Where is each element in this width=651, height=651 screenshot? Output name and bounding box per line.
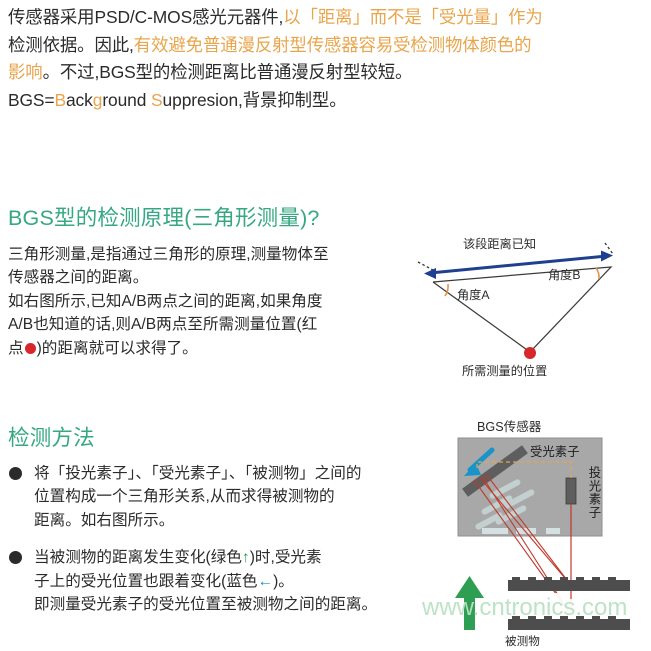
principle-line-1: 三角形测量,是指通过三角形的原理,测量物体至 — [8, 243, 408, 266]
window-slots — [482, 528, 560, 534]
bullet-1-line-1: 将「投光素子」、「受光素子」、「被测物」之间的 — [34, 462, 420, 485]
label-known-distance: 该段距离已知 — [463, 234, 536, 252]
angle-b-arc — [596, 268, 599, 279]
bgs-def-part-6: S — [151, 90, 163, 110]
intro-line-1-part-1: 传感器采用PSD/C-MOS感光元器件, — [8, 7, 283, 27]
triangle-outline — [433, 267, 611, 352]
method-bullet-list: 将「投光素子」、「受光素子」、「被测物」之间的 位置构成一个三角形关系,从而求得… — [8, 462, 420, 630]
intro-line-1: 传感器采用PSD/C-MOS感光元器件,以「距离」而不是「受光量」作为 — [8, 4, 648, 32]
bullet-2-line-1: 当被测物的距离发生变化(绿色↑)时,受光素 — [34, 546, 420, 569]
principle-line-4: A/B也知道的话,则A/B两点至所需测量位置(红 — [8, 313, 408, 336]
intro-line-2: 检测依据。因此,有效避免普通漫反射型传感器容易受检测物体颜色的 — [8, 32, 648, 60]
label-angle-b: 角度B — [548, 265, 581, 283]
triangulation-diagram: 该段距离已知 角度A 角度B 所需测量的位置 — [400, 226, 651, 386]
intro-paragraph: 传感器采用PSD/C-MOS感光元器件,以「距离」而不是「受光量」作为 检测依据… — [8, 4, 648, 114]
measurement-target-dot — [524, 347, 536, 359]
bullet-dot-icon — [9, 551, 22, 564]
arrow-left-blue-icon: ← — [258, 573, 274, 590]
bgs-def-part-5: round — [102, 90, 151, 110]
principle-line-3: 如右图所示,已知A/B两点之间的距离,如果角度 — [8, 290, 408, 313]
principle-line-5-prefix: 点 — [8, 340, 24, 357]
list-item: 当被测物的距离发生变化(绿色↑)时,受光素 子上的受光位置也跟着变化(蓝色←)。… — [8, 546, 420, 616]
principle-line-2: 传感器之间的距离。 — [8, 266, 408, 289]
section-heading-principle: BGS型的检测原理(三角形测量)? — [8, 205, 320, 231]
label-target-position: 所需测量的位置 — [462, 361, 547, 379]
emitter-element — [566, 478, 576, 504]
right-extension-dash — [605, 243, 613, 254]
red-dot-icon — [25, 343, 36, 354]
principle-line-5-suffix: )的距离就可以求得了。 — [37, 340, 198, 357]
section-heading-method: 检测方法 — [8, 425, 95, 451]
arrow-up-green-icon: ↑ — [242, 549, 250, 566]
bgs-def-part-4: g — [93, 90, 103, 110]
label-angle-a: 角度A — [457, 285, 490, 303]
intro-line-4-bgs-definition: BGS=Background Suppresion,背景抑制型。 — [8, 87, 648, 115]
intro-line-2-part-2: 有效避免普通漫反射型传感器容易受检测物体颜色的 — [134, 35, 532, 55]
bullet-dot-icon — [9, 467, 22, 480]
intro-line-2-part-1: 检测依据。因此, — [8, 35, 134, 55]
bullet-2-line-3: 即测量受光素子的受光位置至被测物之间的距离。 — [34, 593, 420, 616]
arrowhead-left — [424, 268, 436, 279]
bgs-def-part-2: B — [54, 90, 66, 110]
near-target-bar — [508, 577, 630, 591]
principle-body-text: 三角形测量,是指通过三角形的原理,测量物体至 传感器之间的距离。 如右图所示,已… — [8, 243, 408, 360]
watermark-text: www.cntronics.com — [422, 594, 627, 622]
bullet-1-line-3: 距离。如右图所示。 — [34, 509, 420, 532]
intro-line-3-part-2: 。不过,BGS型的检测距离比普通漫反射型较短。 — [43, 62, 413, 82]
left-extension-dash — [418, 262, 433, 270]
bgs-def-part-1: BGS= — [8, 90, 54, 110]
bullet-2-line-1-b: )时,受光素 — [250, 549, 322, 566]
bullet-2-line-2-b: )。 — [273, 573, 294, 590]
intro-line-1-part-2: 以「距离」而不是「受光量」作为 — [283, 7, 542, 27]
label-receiver-element: 受光素子 — [530, 442, 580, 460]
bullet-2-line-1-a: 当被测物的距离发生变化(绿色 — [34, 549, 242, 566]
intro-line-3-part-1: 影响 — [8, 62, 43, 82]
bgs-sensor-diagram: BGS传感器 — [430, 416, 651, 651]
label-measured-object: 被测物 — [505, 633, 540, 649]
list-item: 将「投光素子」、「受光素子」、「被测物」之间的 位置构成一个三角形关系,从而求得… — [8, 462, 420, 532]
bullet-2-line-2-a: 子上的受光位置也跟着变化(蓝色 — [34, 573, 258, 590]
bgs-def-part-3: ack — [66, 90, 93, 110]
label-emitter-element: 投光素子 — [585, 466, 603, 520]
principle-line-5: 点)的距离就可以求得了。 — [8, 337, 408, 360]
intro-line-3: 影响。不过,BGS型的检测距离比普通漫反射型较短。 — [8, 59, 648, 87]
bullet-1-line-2: 位置构成一个三角形关系,从而求得被测物的 — [34, 485, 420, 508]
angle-a-arc — [445, 284, 448, 296]
bullet-2-line-2: 子上的受光位置也跟着变化(蓝色←)。 — [34, 570, 420, 593]
bgs-def-part-7: uppresion,背景抑制型。 — [163, 90, 347, 110]
